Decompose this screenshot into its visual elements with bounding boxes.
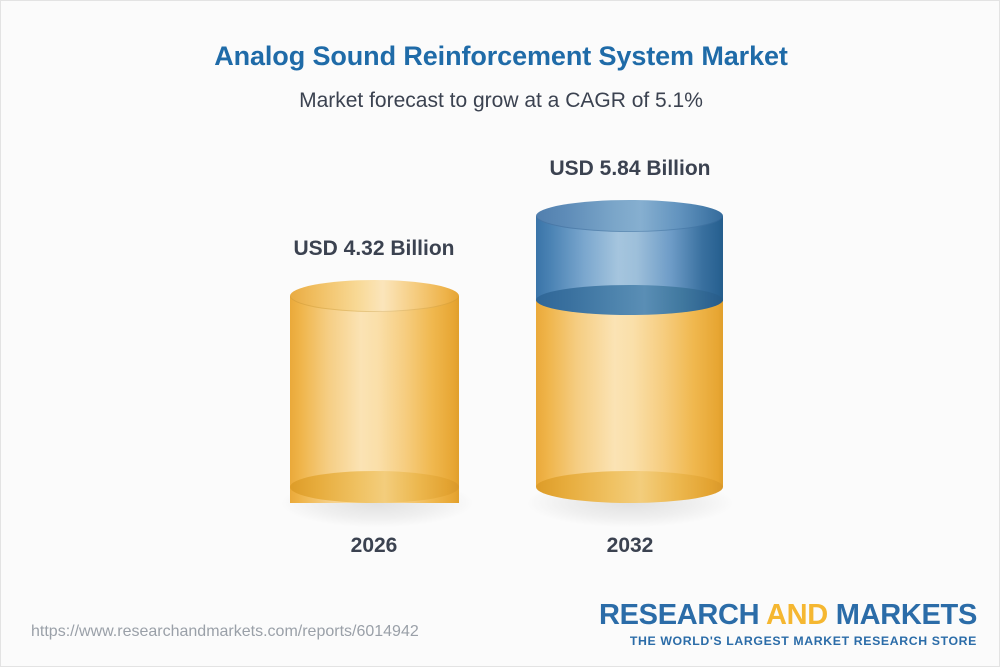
data-label-2026: USD 4.32 Billion [234, 237, 514, 261]
chart-canvas: Analog Sound Reinforcement System Market… [0, 0, 1000, 667]
category-label-2026: 2026 [234, 534, 514, 558]
bar-2032-bottom-cap [536, 471, 723, 503]
bar-2026[interactable] [290, 280, 459, 511]
bar-2026-top-cap [290, 280, 459, 312]
logo-word-markets: MARKETS [828, 599, 977, 631]
data-label-2032: USD 5.84 Billion [490, 157, 770, 181]
bar-2026-bottom-cap [290, 471, 459, 503]
research-and-markets-logo[interactable]: RESEARCH AND MARKETS THE WORLD'S LARGEST… [599, 601, 977, 647]
report-url[interactable]: https://www.researchandmarkets.com/repor… [31, 623, 419, 641]
logo-word-and: AND [766, 599, 828, 631]
logo-wordmark: RESEARCH AND MARKETS [599, 601, 977, 630]
bar-2032-gold-body [536, 299, 723, 487]
category-label-2032: 2032 [490, 534, 770, 558]
bar-2032-top-cap [536, 200, 723, 232]
bar-2032[interactable] [536, 200, 723, 511]
plot-area: USD 4.32 Billion 2026 USD 5.84 Billion [1, 1, 1000, 668]
logo-word-research: RESEARCH [599, 599, 766, 631]
bar-2032-segment-divider [536, 285, 723, 315]
logo-tagline: THE WORLD'S LARGEST MARKET RESEARCH STOR… [599, 635, 977, 647]
